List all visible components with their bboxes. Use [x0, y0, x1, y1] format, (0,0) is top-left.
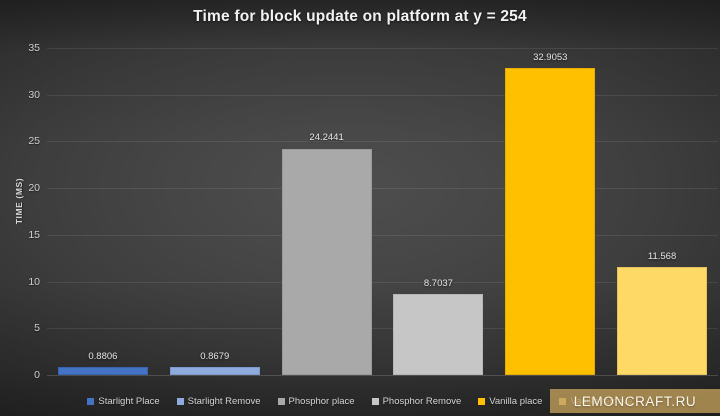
bar: [282, 149, 372, 376]
gridline: [47, 141, 718, 142]
legend-item-label: Starlight Place: [98, 396, 159, 407]
gridline: [47, 95, 718, 96]
legend-item[interactable]: Phosphor Remove: [372, 396, 462, 407]
y-axis-tick-label: 5: [6, 322, 40, 334]
bar-value-label: 0.8679: [200, 351, 229, 362]
gridline: [47, 188, 718, 189]
legend-item[interactable]: Starlight Place: [87, 396, 159, 407]
legend-item[interactable]: Phosphor place: [278, 396, 355, 407]
bar-value-label: 11.568: [648, 251, 676, 262]
watermark-text: LEMONCRAFT.RU: [574, 394, 697, 409]
chart-title: Time for block update on platform at y =…: [0, 8, 720, 26]
y-axis-tick-label: 25: [6, 135, 40, 147]
bar: [58, 367, 148, 375]
y-axis-tick-label: 0: [6, 369, 40, 381]
y-axis-tick-label: 15: [6, 229, 40, 241]
bar-value-label: 32.9053: [533, 52, 567, 63]
plot-area: 0.88060.867924.24418.703732.905311.568: [47, 48, 718, 375]
y-axis-title: TIME (MS): [14, 166, 24, 236]
legend-swatch-icon: [478, 398, 485, 405]
y-axis-tick-label: 35: [6, 42, 40, 54]
y-axis-tick-label: 20: [6, 182, 40, 194]
chart-screenshot: Time for block update on platform at y =…: [0, 0, 720, 416]
gridline: [47, 235, 718, 236]
y-axis-tick-label: 10: [6, 276, 40, 288]
legend-swatch-icon: [87, 398, 94, 405]
bar-value-label: 8.7037: [424, 278, 453, 289]
legend-item[interactable]: Vanilla place: [478, 396, 542, 407]
gridline: [47, 375, 718, 376]
bar: [617, 267, 707, 375]
legend-item-label: Phosphor Remove: [383, 396, 462, 407]
gridline: [47, 48, 718, 49]
watermark-banner: LEMONCRAFT.RU: [550, 389, 720, 413]
bar: [505, 68, 595, 375]
legend-item-label: Starlight Remove: [188, 396, 261, 407]
legend-swatch-icon: [278, 398, 285, 405]
bar: [170, 367, 260, 375]
bar: [393, 294, 483, 375]
legend-swatch-icon: [372, 398, 379, 405]
bar-value-label: 0.8806: [88, 351, 117, 362]
legend-item-label: Vanilla place: [489, 396, 542, 407]
legend-swatch-icon: [177, 398, 184, 405]
bar-value-label: 24.2441: [309, 132, 343, 143]
y-axis-tick-label: 30: [6, 89, 40, 101]
legend-item[interactable]: Starlight Remove: [177, 396, 261, 407]
legend-item-label: Phosphor place: [289, 396, 355, 407]
